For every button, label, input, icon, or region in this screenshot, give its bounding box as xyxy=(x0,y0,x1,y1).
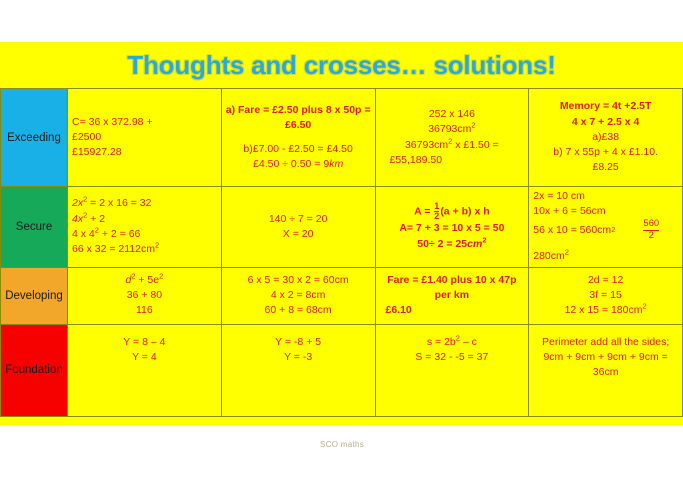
cell-text: 36793cm xyxy=(405,139,448,151)
cell-line: S = 32 - -5 = 37 xyxy=(380,350,525,365)
level-label-foundation: Foundation xyxy=(1,324,68,416)
cell-text: + 5e xyxy=(135,274,159,286)
cell-text: 2x xyxy=(72,197,83,209)
fraction-half: 12 xyxy=(434,202,439,222)
cell-line: Y = -3 xyxy=(226,350,371,365)
cell-text: x £1.50 = xyxy=(452,139,498,151)
cell-text: 4x xyxy=(72,213,83,225)
level-label-developing: Developing xyxy=(1,267,68,324)
level-label-exceeding: Exceeding xyxy=(1,89,68,187)
cell-line: 50÷ 2 = 25cm2 xyxy=(380,237,525,252)
cell-line: 2x = 10 cm xyxy=(533,189,678,204)
table-row: Developing d2 + 5e2 36 + 80 116 6 x 5 = … xyxy=(1,267,683,324)
numerator: 1 xyxy=(434,202,439,211)
cell-line: 66 x 32 = 2112cm2 xyxy=(72,242,217,257)
cell-line: £8.25 xyxy=(533,160,678,175)
cell-line: A= 7 + 3 = 10 x 5 = 50 xyxy=(380,221,525,236)
cell-line: 252 x 146 xyxy=(380,107,525,122)
cell-exceeding-3: 252 x 146 36793cm2 36793cm2 x £1.50 = £5… xyxy=(375,89,529,187)
denominator: 2 xyxy=(434,211,439,221)
cell-foundation-3: s = 2b2 – c S = 32 - -5 = 37 xyxy=(375,324,529,416)
cell-developing-2: 6 x 5 = 30 x 2 = 60cm 4 x 2 = 8cm 60 + 8… xyxy=(221,267,375,324)
watermark-label: SCO maths xyxy=(320,440,364,449)
superscript: 2 xyxy=(155,240,159,249)
cell-text: 36793cm xyxy=(428,123,471,135)
cell-line: 60 + 8 = 68cm xyxy=(226,303,371,318)
cell-secure-4: 2x = 10 cm 10x + 6 = 56cm 56 x 10 = 560c… xyxy=(529,187,683,268)
cell-secure-2: 140 ÷ 7 = 20 X = 20 xyxy=(221,187,375,268)
numerator: 560 xyxy=(643,219,659,229)
cell-developing-1: d2 + 5e2 36 + 80 116 xyxy=(68,267,222,324)
cell-text: – c xyxy=(460,336,477,348)
table-row: Exceeding C= 36 x 372.98 + £2500 £15927.… xyxy=(1,89,683,187)
cell-line: 4x2 + 2 xyxy=(72,212,217,227)
cell-line: A = 12(a + b) x h xyxy=(380,202,525,222)
cell-line: £15927.28 xyxy=(72,145,217,160)
cell-text: 4 x 4 xyxy=(72,228,95,240)
cell-text: 12 x 15 = 180cm xyxy=(565,304,643,316)
cell-foundation-2: Y = -8 + 5 Y = -3 xyxy=(221,324,375,416)
cell-developing-3: Fare = £1.40 plus 10 x 47p per km £6.10 xyxy=(375,267,529,324)
cell-line: Memory = 4t +2.5T xyxy=(533,99,678,114)
cell-text: + 2 xyxy=(87,213,105,225)
cell-foundation-4: Perimeter add all the sides; 9cm + 9cm +… xyxy=(529,324,683,416)
cell-line: 280cm2 xyxy=(533,249,678,264)
cell-line: 56 x 10 = 560cm2 5602 xyxy=(533,219,678,241)
cell-text: s = 2b xyxy=(427,336,456,348)
cell-secure-3: A = 12(a + b) x h A= 7 + 3 = 10 x 5 = 50… xyxy=(375,187,529,268)
cell-line: 2x2 = 2 x 16 = 32 xyxy=(72,196,217,211)
cell-exceeding-2: a) Fare = £2.50 plus 8 x 50p = £6.50 b)£… xyxy=(221,89,375,187)
cell-line: 6 x 5 = 30 x 2 = 60cm xyxy=(226,273,371,288)
cell-line: d2 + 5e2 xyxy=(72,273,217,288)
spacer xyxy=(226,134,371,142)
denominator: 2 xyxy=(643,230,659,241)
cell-text: 66 x 32 = 2112cm xyxy=(72,243,155,255)
cell-line: £4.50 ÷ 0.50 = 9km xyxy=(226,157,371,172)
cell-line: 36 + 80 xyxy=(72,288,217,303)
cell-text: A = xyxy=(414,205,433,217)
table-row: Secure 2x2 = 2 x 16 = 32 4x2 + 2 4 x 42 … xyxy=(1,187,683,268)
cell-line: a)£38 xyxy=(533,130,678,145)
superscript: 2 xyxy=(565,248,569,257)
cell-secure-1: 2x2 = 2 x 16 = 32 4x2 + 2 4 x 42 + 2 = 6… xyxy=(68,187,222,268)
cell-line: £6.10 xyxy=(380,303,525,318)
cell-exceeding-1: C= 36 x 372.98 + £2500 £15927.28 xyxy=(68,89,222,187)
cell-line: Perimeter add all the sides; xyxy=(533,335,678,350)
cell-exceeding-4: Memory = 4t +2.5T 4 x 7 + 2.5 x 4 a)£38 … xyxy=(529,89,683,187)
superscript: 2 xyxy=(159,271,163,280)
cell-text: + 2 = 66 xyxy=(99,228,140,240)
cell-line: b) 7 x 55p + 4 x £1.10. xyxy=(533,145,678,160)
cell-line: 12 x 15 = 180cm2 xyxy=(533,303,678,318)
cell-text: = 2 x 16 = 32 xyxy=(87,197,151,209)
cell-line: £55,189.50 xyxy=(380,153,525,168)
slide-canvas: Thoughts and crosses… solutions! Exceedi… xyxy=(0,42,683,425)
superscript: 2 xyxy=(471,121,475,130)
cell-line: 3f = 15 xyxy=(533,288,678,303)
page-title: Thoughts and crosses… solutions! xyxy=(0,50,683,81)
cell-line: Y = -8 + 5 xyxy=(226,335,371,350)
spacer xyxy=(533,241,678,249)
cell-line: Y = 4 xyxy=(72,350,217,365)
fraction-560-over-2: 5602 xyxy=(643,219,659,241)
cell-text: 50÷ 2 = 25 xyxy=(417,238,467,250)
cell-line: 4 x 2 = 8cm xyxy=(226,288,371,303)
cell-line: 10x + 6 = 56cm xyxy=(533,204,678,219)
cell-line: 9cm + 9cm + 9cm + 9cm = 36cm xyxy=(533,350,678,380)
cell-text: 56 x 10 = 560cm xyxy=(533,223,611,238)
cell-line: £6.50 xyxy=(226,118,371,133)
cell-foundation-1: Y = 8 – 4 Y = 4 xyxy=(68,324,222,416)
cell-developing-4: 2d = 12 3f = 15 12 x 15 = 180cm2 xyxy=(529,267,683,324)
superscript: 2 xyxy=(482,235,486,244)
cell-line: C= 36 x 372.98 + xyxy=(72,115,217,130)
cell-line: £2500 xyxy=(72,130,217,145)
superscript: 2 xyxy=(643,302,647,311)
cell-line: 116 xyxy=(72,303,217,318)
cell-text: 280cm xyxy=(533,250,565,262)
cell-unit: km xyxy=(329,158,343,170)
table-row: Foundation Y = 8 – 4 Y = 4 Y = -8 + 5 Y … xyxy=(1,324,683,416)
cell-line: X = 20 xyxy=(226,227,371,242)
cell-line: b)£7.00 - £2.50 = £4.50 xyxy=(226,142,371,157)
cell-line: 4 x 7 + 2.5 x 4 xyxy=(533,115,678,130)
solutions-table: Exceeding C= 36 x 372.98 + £2500 £15927.… xyxy=(0,88,683,417)
cell-line: 4 x 42 + 2 = 66 xyxy=(72,227,217,242)
cell-line: a) Fare = £2.50 plus 8 x 50p = xyxy=(226,103,371,118)
cell-line: 140 ÷ 7 = 20 xyxy=(226,212,371,227)
cell-text: (a + b) x h xyxy=(440,205,489,217)
cell-line: Fare = £1.40 plus 10 x 47p per km xyxy=(380,273,525,303)
cell-text: £4.50 ÷ 0.50 = 9 xyxy=(253,158,329,170)
cell-line: 36793cm2 x £1.50 = xyxy=(380,138,525,153)
cell-unit: cm xyxy=(467,238,482,250)
cell-line: Y = 8 – 4 xyxy=(72,335,217,350)
cell-line: 2d = 12 xyxy=(533,273,678,288)
level-label-secure: Secure xyxy=(1,187,68,268)
cell-line: s = 2b2 – c xyxy=(380,335,525,350)
